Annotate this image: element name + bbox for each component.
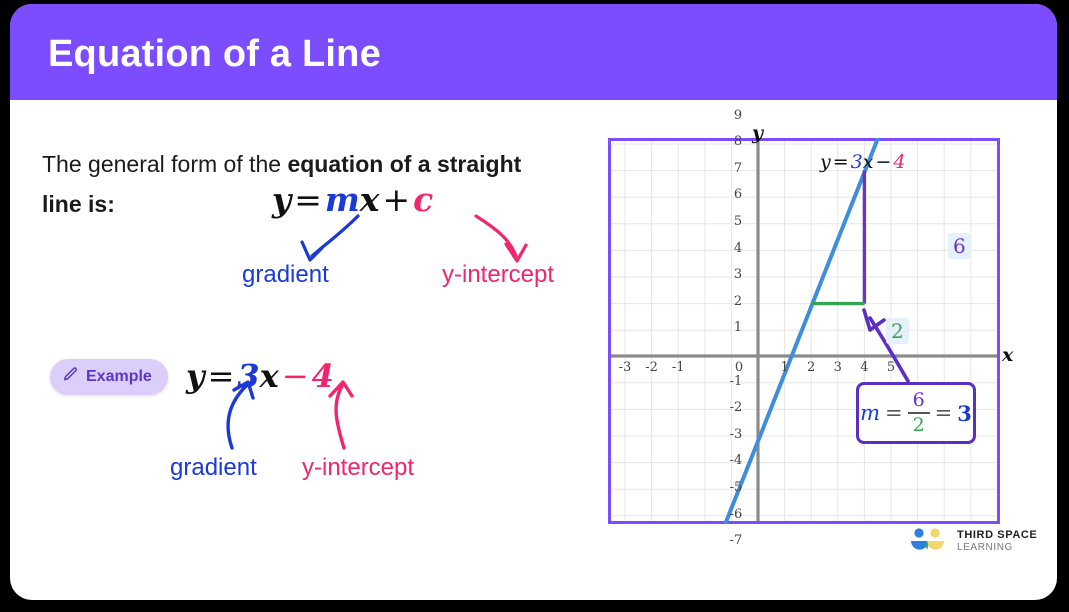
y-tick-5: 5 bbox=[726, 214, 750, 229]
m-equals-2: = bbox=[935, 401, 953, 425]
x-tick--3: -3 bbox=[610, 360, 640, 375]
example-badge[interactable]: Example bbox=[50, 359, 168, 395]
arrow-yintercept-example bbox=[336, 386, 344, 448]
x-tick--1: -1 bbox=[663, 360, 693, 375]
ex-coefficient: 3 bbox=[237, 357, 259, 395]
ex-constant: 4 bbox=[312, 357, 334, 395]
eq-y: y bbox=[272, 180, 291, 219]
ex-minus: − bbox=[279, 357, 312, 395]
y-axis-label: y bbox=[752, 122, 763, 144]
x-axis-label: x bbox=[1002, 344, 1013, 366]
graph-equation-label: y=3x−4 bbox=[820, 151, 905, 173]
ge-minus: − bbox=[873, 151, 893, 173]
gridlines bbox=[611, 141, 997, 521]
ge-equals: = bbox=[831, 151, 851, 173]
y-tick-3: 3 bbox=[726, 267, 750, 282]
graph-panel: y x y=3x−4 6 2 m = 6 2 = 3 -3 -2 -1 0 1 … bbox=[608, 138, 1000, 524]
m-value: 3 bbox=[957, 401, 972, 426]
y-tick-8: 8 bbox=[726, 134, 750, 149]
ge-coefficient: 3 bbox=[851, 151, 863, 173]
y-tick--4: -4 bbox=[722, 453, 750, 468]
example-badge-label: Example bbox=[86, 368, 152, 386]
y-tick--3: -3 bbox=[722, 427, 750, 442]
yintercept-label-general: y-intercept bbox=[442, 261, 554, 289]
brand-logo: THIRD SPACE LEARNING bbox=[908, 528, 1037, 554]
y-tick-2: 2 bbox=[726, 294, 750, 309]
ge-y: y bbox=[820, 151, 831, 173]
y-tick--2: -2 bbox=[722, 400, 750, 415]
eq-x: x bbox=[360, 180, 380, 219]
intro-plain: The general form of the bbox=[42, 151, 287, 177]
smiley-logo-icon bbox=[908, 528, 948, 554]
fraction-numerator: 6 bbox=[913, 391, 925, 410]
gradient-formula-box: m = 6 2 = 3 bbox=[856, 382, 976, 444]
logo-name: THIRD SPACE bbox=[957, 529, 1037, 542]
y-tick-1: 1 bbox=[726, 320, 750, 335]
y-tick--6: -6 bbox=[722, 507, 750, 522]
arrowhead-yintercept-general bbox=[506, 244, 526, 261]
rise-label: 6 bbox=[948, 233, 971, 259]
graph-canvas bbox=[608, 138, 1000, 524]
ge-constant: 4 bbox=[893, 151, 905, 173]
example-equation: y=3x−4 bbox=[186, 357, 334, 395]
gradient-label-example: gradient bbox=[170, 454, 257, 482]
ex-y: y bbox=[186, 357, 205, 395]
m-symbol: m bbox=[860, 401, 880, 425]
eq-m: m bbox=[325, 180, 360, 219]
x-tick-4: 4 bbox=[849, 360, 879, 375]
ex-equals: = bbox=[205, 357, 238, 395]
x-tick--2: -2 bbox=[637, 360, 667, 375]
ge-x: x bbox=[863, 151, 874, 173]
y-tick--7: -7 bbox=[722, 533, 750, 548]
x-tick-3: 3 bbox=[823, 360, 853, 375]
m-equals-1: = bbox=[885, 401, 903, 425]
logo-sub: LEARNING bbox=[957, 542, 1037, 554]
eq-equals: = bbox=[291, 180, 325, 219]
y-tick-4: 4 bbox=[726, 241, 750, 256]
eq-plus: + bbox=[379, 180, 413, 219]
slide-header: Equation of a Line bbox=[10, 4, 1057, 100]
gradient-label-general: gradient bbox=[242, 261, 329, 289]
x-tick-1: 1 bbox=[770, 360, 800, 375]
slide-card: Equation of a Line The general form of t… bbox=[10, 4, 1057, 600]
ex-x: x bbox=[260, 357, 279, 395]
x-tick-2: 2 bbox=[796, 360, 826, 375]
arrowhead-gradient-general bbox=[302, 242, 322, 260]
yintercept-label-example: y-intercept bbox=[302, 454, 414, 482]
rise-over-run-fraction: 6 2 bbox=[908, 391, 930, 435]
y-tick-7: 7 bbox=[726, 161, 750, 176]
eq-c: c bbox=[413, 180, 433, 219]
y-tick-9: 9 bbox=[726, 108, 750, 123]
y-tick-6: 6 bbox=[726, 187, 750, 202]
arrow-gradient-example bbox=[228, 386, 246, 448]
pencil-icon bbox=[62, 366, 79, 388]
y-tick--1: -1 bbox=[722, 374, 750, 389]
page-title: Equation of a Line bbox=[48, 33, 381, 76]
arrowhead-to-corner bbox=[864, 310, 884, 330]
run-label: 2 bbox=[886, 318, 909, 344]
fraction-denominator: 2 bbox=[913, 416, 925, 435]
y-tick--5: -5 bbox=[722, 480, 750, 495]
general-equation: y=mx+c bbox=[272, 180, 433, 219]
x-tick-5: 5 bbox=[876, 360, 906, 375]
